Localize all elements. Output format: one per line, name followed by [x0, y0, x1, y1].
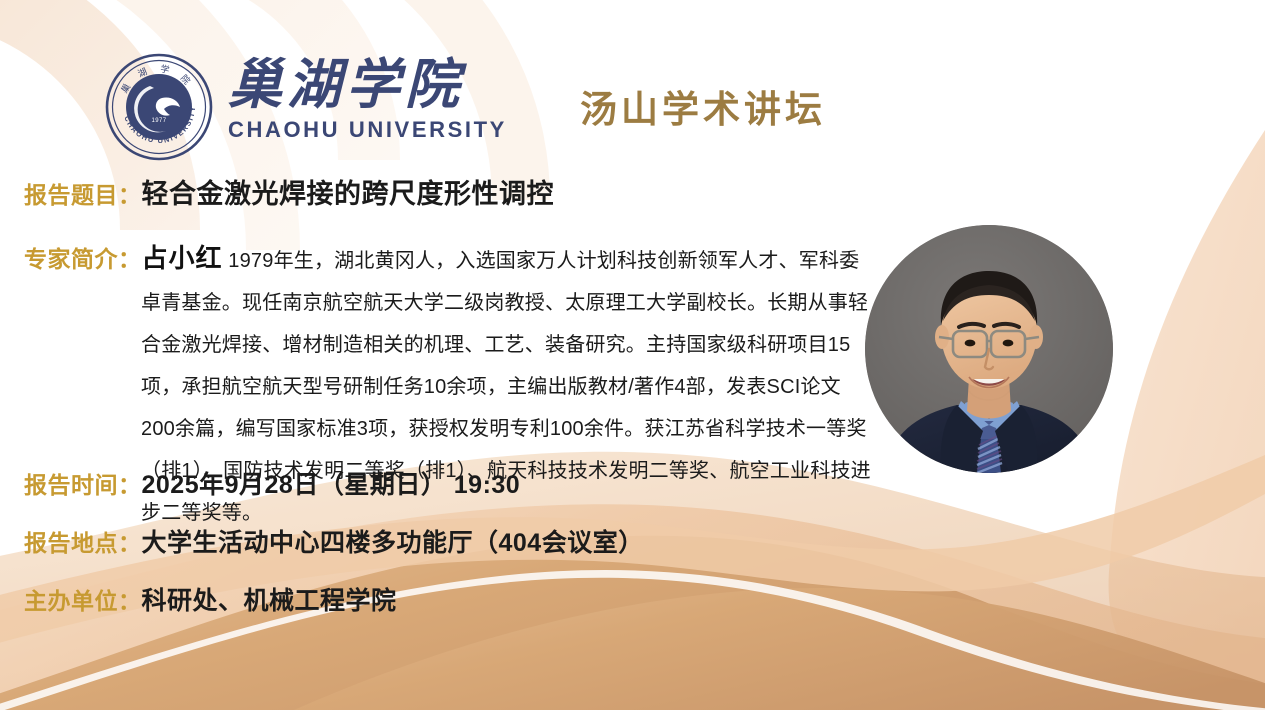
- organizer-row: 主办单位： 科研处、机械工程学院: [24, 581, 397, 617]
- forum-title: 汤山学术讲坛: [580, 79, 826, 133]
- university-logo: 1977 巢 湖 学 院 CHAOHU UNIVERSITY 巢湖学院 CHAO…: [104, 52, 507, 162]
- organizer-value: 科研处、机械工程学院: [142, 581, 397, 617]
- forum-banner: 汤山学术讲坛 专家学者专场: [540, 70, 1265, 142]
- svg-text:1977: 1977: [152, 118, 167, 124]
- right-arc-decoration: [1109, 130, 1265, 710]
- report-title-label: 报告题目：: [24, 176, 142, 210]
- report-time-row: 报告时间： 2025年9月28日（星期日） 19:30: [24, 465, 520, 501]
- speaker-portrait: [865, 225, 1113, 473]
- report-time-value: 2025年9月28日（星期日） 19:30: [142, 465, 521, 501]
- report-title-value: 轻合金激光焊接的跨尺度形性调控: [142, 172, 555, 211]
- university-name-en: CHAOHU UNIVERSITY: [228, 117, 507, 143]
- university-name-cn: 巢湖学院: [228, 58, 507, 113]
- report-place-label: 报告地点：: [24, 524, 142, 558]
- speaker-name: 占小红: [142, 243, 223, 273]
- speaker-bio-label: 专家简介：: [24, 246, 142, 272]
- university-wordmark: 巢湖学院 CHAOHU UNIVERSITY: [228, 52, 507, 143]
- university-seal-icon: 1977 巢 湖 学 院 CHAOHU UNIVERSITY: [104, 52, 214, 162]
- banner-divider: [860, 85, 863, 127]
- poster-header: 1977 巢 湖 学 院 CHAOHU UNIVERSITY 巢湖学院 CHAO…: [0, 0, 1265, 160]
- report-place-value: 大学生活动中心四楼多功能厅（404会议室）: [142, 523, 644, 559]
- report-title-row: 报告题目： 轻合金激光焊接的跨尺度形性调控: [24, 172, 554, 211]
- seminar-poster: 1977 巢 湖 学 院 CHAOHU UNIVERSITY 巢湖学院 CHAO…: [0, 0, 1265, 710]
- forum-subtitle: 专家学者专场: [891, 85, 1095, 127]
- report-time-label: 报告时间：: [24, 466, 142, 500]
- report-place-row: 报告地点： 大学生活动中心四楼多功能厅（404会议室）: [24, 523, 644, 559]
- organizer-label: 主办单位：: [24, 582, 142, 616]
- speaker-portrait-image: [865, 225, 1113, 473]
